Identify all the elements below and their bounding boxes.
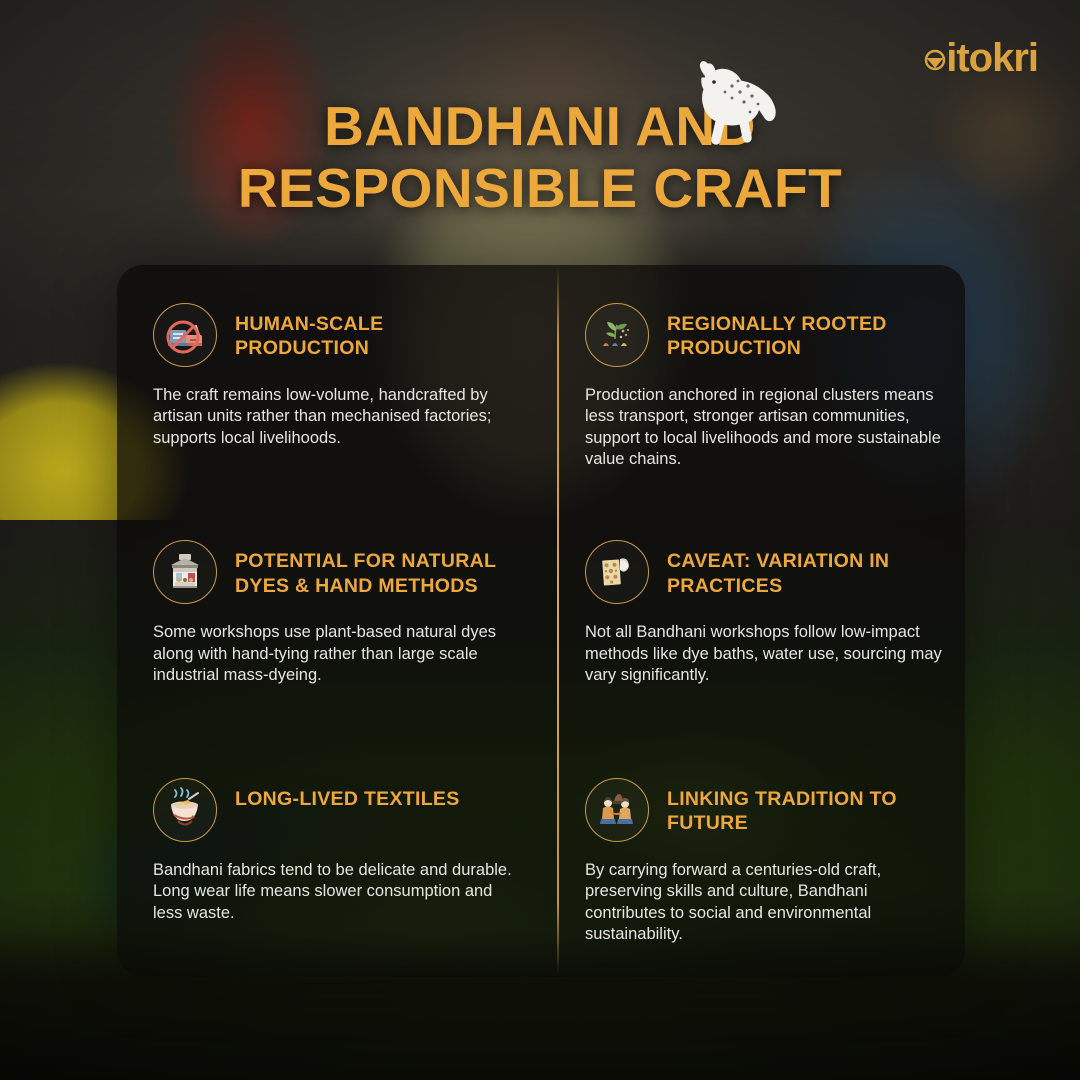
feature-header: LONG-LIVED TEXTILES [153,778,523,842]
two-artisans-working-icon [585,778,649,842]
steaming-dye-pot-icon [153,778,217,842]
feature-title: POTENTIAL FOR NATURAL DYES & HAND METHOD… [235,540,523,597]
feature-item: LONG-LIVED TEXTILES Bandhani fabrics ten… [117,740,557,977]
goat-illustration-icon [680,52,800,162]
brand-logo[interactable]: itokri [924,38,1038,78]
feature-header: LINKING TRADITION TO FUTURE [585,778,947,842]
feature-item: LINKING TRADITION TO FUTURE By carrying … [557,740,965,977]
feature-header: CAVEAT: VARIATION IN PRACTICES [585,540,947,604]
feature-title: LONG-LIVED TEXTILES [235,778,460,811]
feature-title: REGIONALLY ROOTED PRODUCTION [667,303,935,360]
brand-logo-text: itokri [946,38,1038,78]
feature-body: The craft remains low-volume, handcrafte… [153,385,523,449]
feature-header: POTENTIAL FOR NATURAL DYES & HAND METHOD… [153,540,523,604]
feature-header: REGIONALLY ROOTED PRODUCTION [585,303,947,367]
no-factory-machine-icon [153,303,217,367]
itokri-basket-logo-mark [924,38,946,78]
feature-body: Some workshops use plant-based natural d… [153,622,523,686]
artisan-workshop-storefront-icon [153,540,217,604]
hand-holding-patterned-fabric-icon [585,540,649,604]
feature-body: Not all Bandhani workshops follow low-im… [585,622,947,686]
feature-header: HUMAN-SCALE PRODUCTION [153,303,523,367]
feature-item: HUMAN-SCALE PRODUCTION The craft remains… [117,265,557,502]
infographic-poster: itokri BANDHANI AND RESPONSIBLE CRAFT [0,0,1080,1080]
title-block: BANDHANI AND RESPONSIBLE CRAFT [0,96,1080,219]
feature-body: Production anchored in regional clusters… [585,385,947,471]
feature-title: LINKING TRADITION TO FUTURE [667,778,935,835]
feature-item: POTENTIAL FOR NATURAL DYES & HAND METHOD… [117,502,557,739]
page-title: BANDHANI AND RESPONSIBLE CRAFT [0,96,1080,219]
feature-body: Bandhani fabrics tend to be delicate and… [153,860,523,924]
feature-item: REGIONALLY ROOTED PRODUCTION Production … [557,265,965,502]
features-grid: HUMAN-SCALE PRODUCTION The craft remains… [117,265,965,977]
plant-sprout-dye-piles-icon [585,303,649,367]
feature-body: By carrying forward a centuries-old craf… [585,860,947,946]
feature-title: HUMAN-SCALE PRODUCTION [235,303,523,360]
feature-title: CAVEAT: VARIATION IN PRACTICES [667,540,935,597]
feature-item: CAVEAT: VARIATION IN PRACTICES Not all B… [557,502,965,739]
title-line-2: RESPONSIBLE CRAFT [238,157,842,219]
